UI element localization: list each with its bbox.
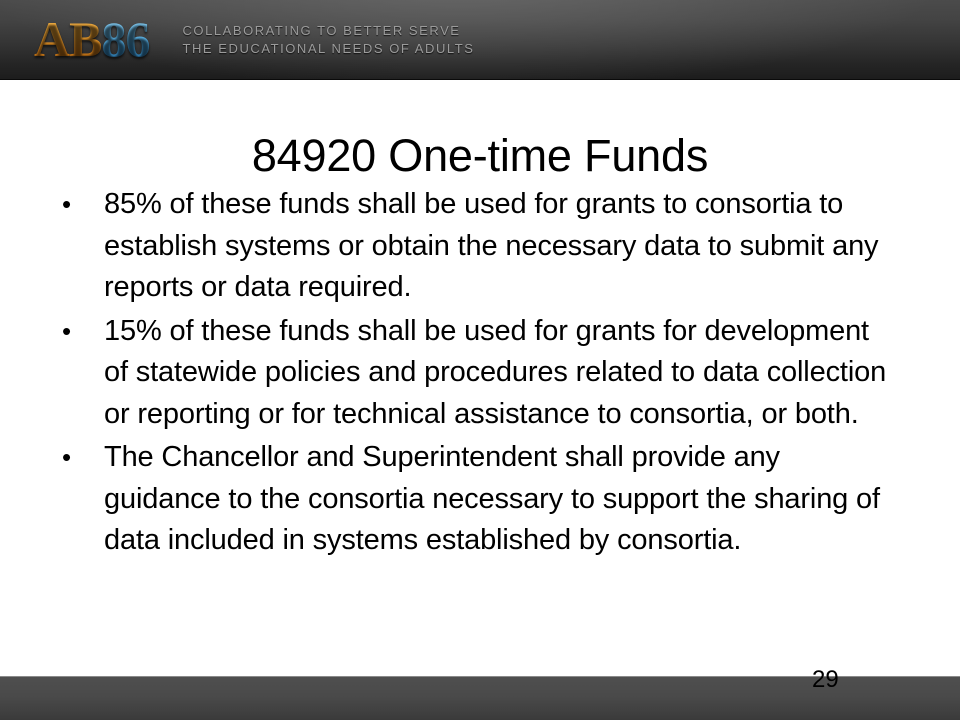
ab86-logo: AB86	[34, 14, 149, 64]
bullet-point-icon: •	[62, 437, 80, 479]
page-number: 29	[812, 666, 872, 694]
bullet-point-icon: •	[62, 184, 80, 226]
tagline-line-1: COLLABORATING TO BETTER SERVE	[182, 22, 474, 40]
tagline-line-2: THE EDUCATIONAL NEEDS OF ADULTS	[182, 40, 474, 58]
logo-text-86: 86	[101, 11, 149, 67]
slide-header-bar: AB86 COLLABORATING TO BETTER SERVE THE E…	[0, 0, 960, 80]
list-item: • 15% of these funds shall be used for g…	[56, 311, 896, 436]
logo-text-ab: AB	[34, 11, 101, 67]
list-item-text: 85% of these funds shall be used for gra…	[104, 184, 896, 309]
header-content: AB86 COLLABORATING TO BETTER SERVE THE E…	[34, 0, 474, 80]
bullet-list: • 85% of these funds shall be used for g…	[56, 184, 896, 564]
list-item-text: 15% of these funds shall be used for gra…	[104, 311, 896, 436]
list-item-text: The Chancellor and Superintendent shall …	[104, 437, 896, 562]
header-tagline: COLLABORATING TO BETTER SERVE THE EDUCAT…	[182, 22, 474, 58]
slide-canvas: AB86 COLLABORATING TO BETTER SERVE THE E…	[0, 0, 960, 720]
page-title: 84920 One-time Funds	[60, 130, 900, 182]
logo-tagline-spacer	[149, 40, 182, 41]
bullet-point-icon: •	[62, 311, 80, 353]
list-item: • 85% of these funds shall be used for g…	[56, 184, 896, 309]
list-item: • The Chancellor and Superintendent shal…	[56, 437, 896, 562]
